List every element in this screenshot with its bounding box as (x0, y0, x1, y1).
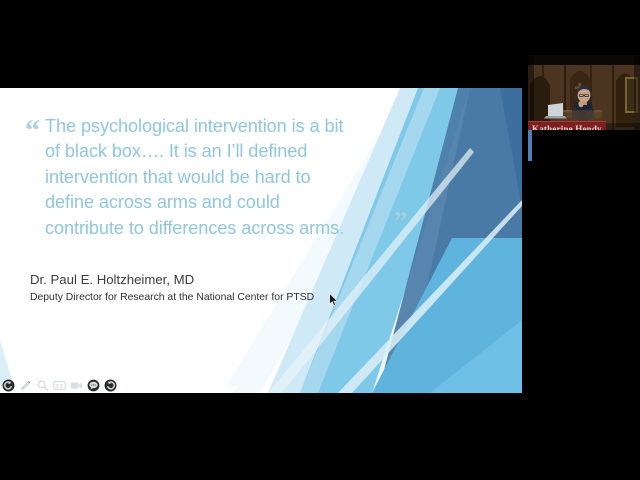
attribution-role: Deputy Director for Research at the Nati… (30, 291, 390, 304)
attribution-name: Dr. Paul E. Holtzheimer, MD (30, 271, 390, 288)
video-camera-icon[interactable] (70, 379, 83, 392)
back-arrow-icon[interactable] (2, 379, 15, 392)
pen-icon[interactable] (19, 379, 32, 392)
webcam-video: Katherine Hendy (528, 55, 640, 130)
speaker-name-label: Katherine Hendy (532, 124, 602, 131)
webcam-panel[interactable]: Katherine Hendy (528, 55, 640, 163)
screen-stage: “ The psychological intervention is a bi… (0, 0, 640, 480)
shared-slide: “ The psychological intervention is a bi… (0, 88, 522, 393)
speaker-name-badge: Katherine Hendy (528, 121, 606, 130)
speaker-video-frame (528, 55, 640, 130)
quote-text: The psychological intervention is a bit … (22, 114, 412, 241)
subtitles-icon[interactable] (53, 379, 66, 392)
open-quote-mark: “ (25, 116, 39, 146)
annotation-toolbar[interactable] (2, 378, 117, 393)
webcam-blue-edge-strip (528, 125, 532, 161)
close-quote-mark: ” (394, 208, 408, 235)
chat-bubble-icon[interactable] (87, 379, 100, 392)
attribution: Dr. Paul E. Holtzheimer, MD Deputy Direc… (30, 271, 390, 304)
magnifier-icon[interactable] (36, 379, 49, 392)
forward-arrow-icon[interactable] (104, 379, 117, 392)
quote-block: “ The psychological intervention is a bi… (22, 114, 412, 241)
